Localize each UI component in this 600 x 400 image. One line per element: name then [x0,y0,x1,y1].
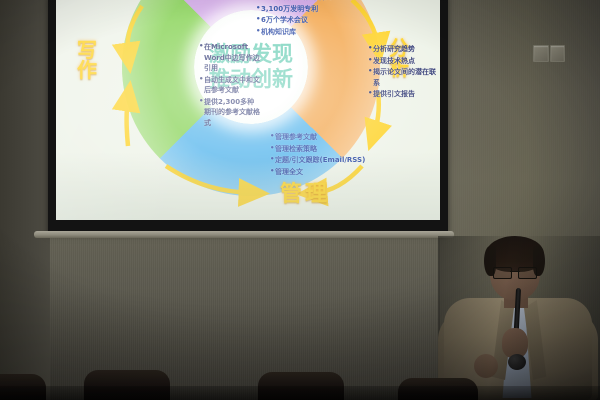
screenshot-root: 激励发现 推动创新 [0,0,600,400]
room-vignette [0,0,600,400]
